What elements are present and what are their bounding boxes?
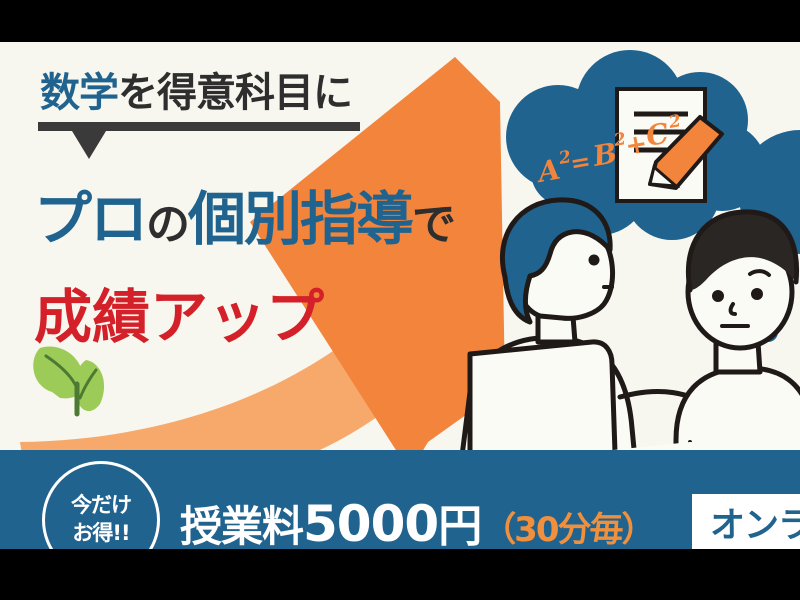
price-unit: （30分毎）	[482, 510, 653, 549]
headline-line2-no: の	[146, 199, 188, 250]
online-cta-button[interactable]: オンラ	[692, 494, 800, 549]
price-block: 授業料5000円（30分毎）	[180, 490, 654, 549]
headline-line1-rest: を得意科目に	[118, 70, 352, 116]
offer-banner: 今だけ お得!! 授業料5000円（30分毎） オンラ	[0, 450, 800, 549]
headline-line-2: プロの個別指導で	[34, 172, 454, 256]
price-currency: 円	[438, 501, 482, 549]
headline-line1-highlight: 数学	[40, 70, 118, 116]
creative-area: A 2 = B 2 + C 2	[0, 42, 800, 549]
badge-line-1: 今だけ	[71, 492, 131, 520]
headline-divider-bar	[38, 122, 360, 131]
price-label: 授業料	[180, 502, 303, 549]
sprout-icon	[33, 346, 104, 414]
headline-line2-pro: プロ	[34, 185, 146, 253]
headline-line-1: 数学を得意科目に	[40, 60, 352, 118]
headline-line-3: 成績アップ	[34, 270, 324, 354]
headline-line2-de: で	[412, 199, 454, 250]
headline-line2-kobetsu: 個別指導	[188, 185, 412, 253]
banner-canvas: A 2 = B 2 + C 2	[0, 0, 800, 600]
headline-divider-arrow	[72, 131, 106, 159]
badge-line-2: お得!!	[72, 520, 129, 548]
letterbox-top	[0, 0, 800, 42]
limited-offer-badge: 今だけ お得!!	[42, 461, 160, 549]
letterbox-bottom	[0, 549, 800, 600]
price-number: 5000	[303, 495, 438, 549]
online-cta-label: オンラ	[692, 497, 800, 548]
